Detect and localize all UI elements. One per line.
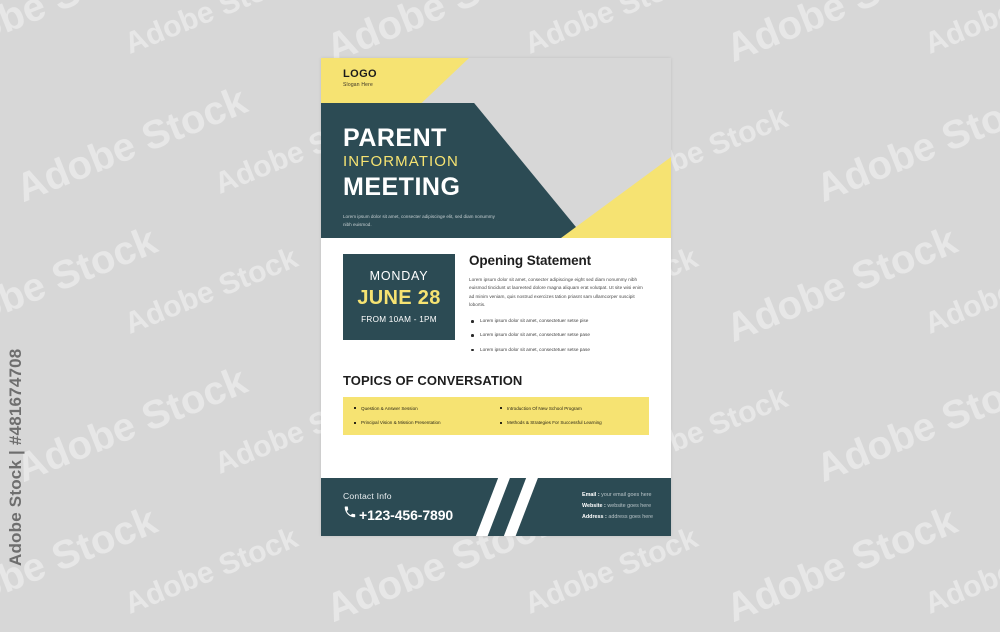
statement-column: Opening Statement Lorem ipsum dolor sit …	[469, 254, 649, 361]
header-subtitle: Lorem ipsum dolor sit amet, consecter ad…	[343, 213, 503, 229]
flyer-footer: Contact Info +123-456-7890 Email : your …	[321, 478, 671, 536]
statement-paragraph: Lorem ipsum dolor sit amet, consecter ad…	[469, 276, 649, 309]
contact-info-label: Contact Info	[343, 491, 453, 501]
list-item: Lorem ipsum dolor sit amet, consectetuer…	[469, 347, 649, 353]
date-day: JUNE 28	[349, 285, 449, 312]
topics-heading: TOPICS OF CONVERSATION	[343, 373, 649, 388]
flyer-page: LOGO Slogan Here PARENT INFORMATION MEET…	[321, 58, 671, 536]
list-item: Lorem ipsum dolor sit amet, consectetuer…	[469, 332, 649, 338]
topic-item: Methods & Strategies For Successful Lear…	[499, 420, 639, 426]
detail-row-email: Email : your email goes here	[582, 492, 653, 500]
topic-item: Introduction Of New School Program	[499, 406, 639, 412]
contact-block: Contact Info +123-456-7890	[343, 491, 453, 524]
contact-details: Email : your email goes here Website : w…	[582, 492, 653, 525]
detail-row-website: Website : website goes here	[582, 503, 653, 511]
statement-row: MONDAY JUNE 28 FROM 10AM - 1PM Opening S…	[343, 254, 649, 361]
date-card: MONDAY JUNE 28 FROM 10AM - 1PM	[343, 254, 455, 340]
contact-phone-number: +123-456-7890	[359, 507, 453, 523]
accent-wedge-shape	[561, 157, 671, 238]
detail-key: Email :	[582, 492, 600, 498]
flyer-header: LOGO Slogan Here PARENT INFORMATION MEET…	[321, 58, 671, 238]
logo-wordmark: LOGO	[343, 69, 377, 80]
list-item: Lorem ipsum dolor sit amet, consectetuer…	[469, 318, 649, 324]
statement-heading: Opening Statement	[469, 254, 649, 269]
detail-row-address: Address : address goes here	[582, 514, 653, 522]
contact-phone-row: +123-456-7890	[343, 505, 453, 524]
asset-id-label: Adobe Stock | #481674708	[6, 349, 26, 566]
topic-item: Principal Vision & Mission Presentation	[353, 420, 493, 426]
detail-value: your email goes here	[601, 492, 651, 498]
date-weekday: MONDAY	[349, 269, 449, 284]
flyer-body: MONDAY JUNE 28 FROM 10AM - 1PM Opening S…	[321, 238, 671, 478]
logo-block: LOGO Slogan Here	[343, 69, 377, 88]
title-line-meeting: MEETING	[343, 174, 533, 200]
date-time-range: FROM 10AM - 1PM	[349, 315, 449, 324]
detail-key: Website :	[582, 503, 606, 509]
detail-value: address goes here	[608, 514, 653, 520]
topic-item: Question & Answer Session	[353, 406, 493, 412]
detail-value: website goes here	[607, 503, 651, 509]
title-line-parent: PARENT	[343, 125, 533, 151]
header-title-group: PARENT INFORMATION MEETING Lorem ipsum d…	[343, 125, 533, 229]
title-line-information: INFORMATION	[343, 151, 533, 174]
logo-slogan: Slogan Here	[343, 82, 377, 88]
phone-icon	[343, 505, 357, 524]
topics-panel: Question & Answer Session Introduction O…	[343, 397, 649, 435]
statement-bullet-list: Lorem ipsum dolor sit amet, consectetuer…	[469, 318, 649, 352]
detail-key: Address :	[582, 514, 607, 520]
